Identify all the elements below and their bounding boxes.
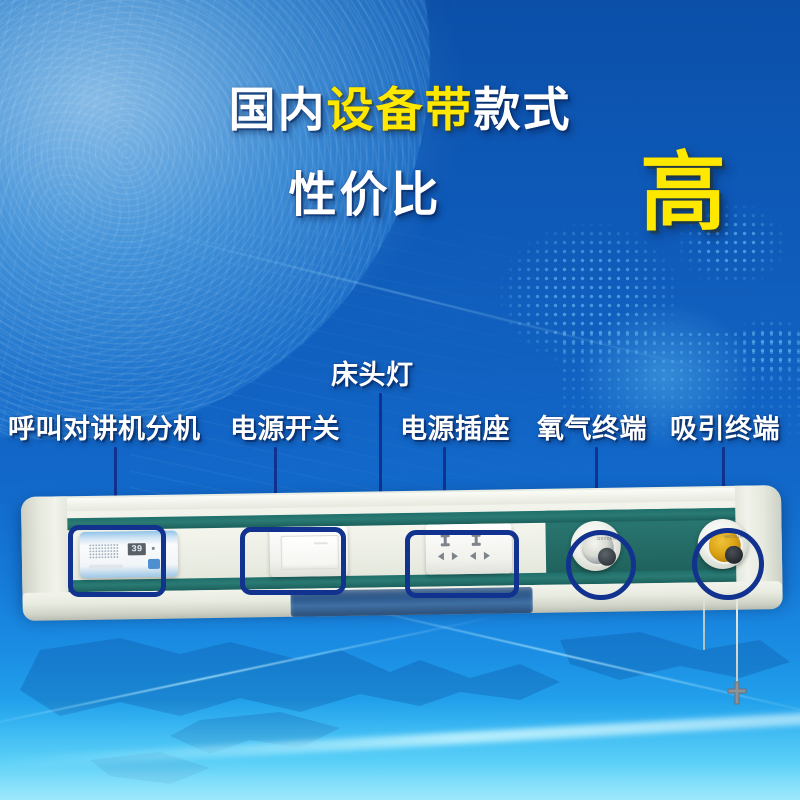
callout-label-oxygen-terminal: 氧气终端 <box>537 416 647 443</box>
callout-label-call-intercom-extension: 呼叫对讲机分机 <box>8 416 201 443</box>
hanging-cord <box>736 596 738 684</box>
highlight-circle-oxygen-terminal <box>566 530 636 600</box>
highlight-box-call-intercom-extension <box>68 525 166 597</box>
hanging-cord-secondary <box>703 596 705 650</box>
promo-banner: 国内设备带款式 性价比 高 呼叫对讲机分机 电源开关 床头灯 电源插座 氧气终端… <box>0 0 800 800</box>
callout-label-power-socket: 电源插座 <box>400 416 510 443</box>
callout-layer: 呼叫对讲机分机 电源开关 床头灯 电源插座 氧气终端 吸引终端 <box>0 0 800 800</box>
highlight-circle-suction-terminal <box>692 528 764 600</box>
callout-label-power-switch: 电源开关 <box>230 416 340 443</box>
highlight-box-power-switch <box>240 527 346 595</box>
highlight-box-power-socket <box>405 530 519 598</box>
cord-weight-icon <box>724 680 750 706</box>
callout-label-suction-terminal: 吸引终端 <box>670 416 780 443</box>
callout-label-bed-head-lamp: 床头灯 <box>331 362 414 389</box>
